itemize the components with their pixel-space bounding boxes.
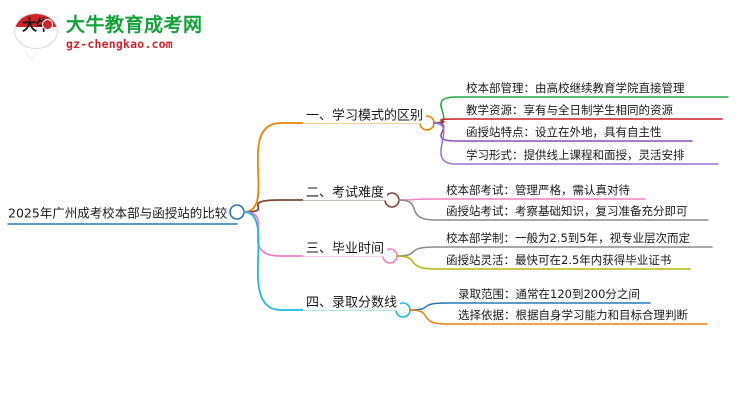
leaf-label-2-2[interactable]: 函授站考试：考察基础知识，复习准备充分即可 <box>446 203 688 219</box>
mindmap-edge <box>399 199 645 200</box>
leaf-label-1-3[interactable]: 函授站特点：设立在外地，具有自主性 <box>466 124 662 140</box>
leaf-label-1-2[interactable]: 教学资源：享有与全日制学生相同的资源 <box>466 102 673 118</box>
root-node-circle[interactable] <box>230 205 244 219</box>
branch-label-1[interactable]: 一、学习模式的区别 <box>303 105 426 124</box>
branch-label-4[interactable]: 四、录取分数线 <box>303 292 400 311</box>
leaf-label-2-1[interactable]: 校本部考试：管理严格，需认真对待 <box>446 182 630 198</box>
mindmap-edge <box>434 119 722 123</box>
leaf-label-1-4[interactable]: 学习形式：提供线上课程和面授，灵活安排 <box>466 147 685 163</box>
leaf-label-3-2[interactable]: 函授站灵活：最快可在2.5年内获得毕业证书 <box>446 252 671 268</box>
leaf-label-4-1[interactable]: 录取范围：通常在120到200分之间 <box>458 286 640 302</box>
leaf-label-4-2[interactable]: 选择依据：根据自身学习能力和目标合理判断 <box>458 307 688 323</box>
leaf-label-3-1[interactable]: 校本部学制：一般为2.5到5年，视专业层次而定 <box>446 230 690 246</box>
root-node-label[interactable]: 2025年广州成考校本部与函授站的比较 <box>8 203 227 222</box>
mindmap-canvas: 2025年广州成考校本部与函授站的比较一、学习模式的区别校本部管理：由高校继续教… <box>0 0 750 410</box>
branch-node-circle-2[interactable] <box>385 193 399 207</box>
branch-label-3[interactable]: 三、毕业时间 <box>303 238 387 257</box>
mindmap-edge <box>244 200 385 212</box>
leaf-label-1-1[interactable]: 校本部管理：由高校继续教育学院直接管理 <box>466 80 685 96</box>
branch-label-2[interactable]: 二、考试难度 <box>303 182 387 201</box>
